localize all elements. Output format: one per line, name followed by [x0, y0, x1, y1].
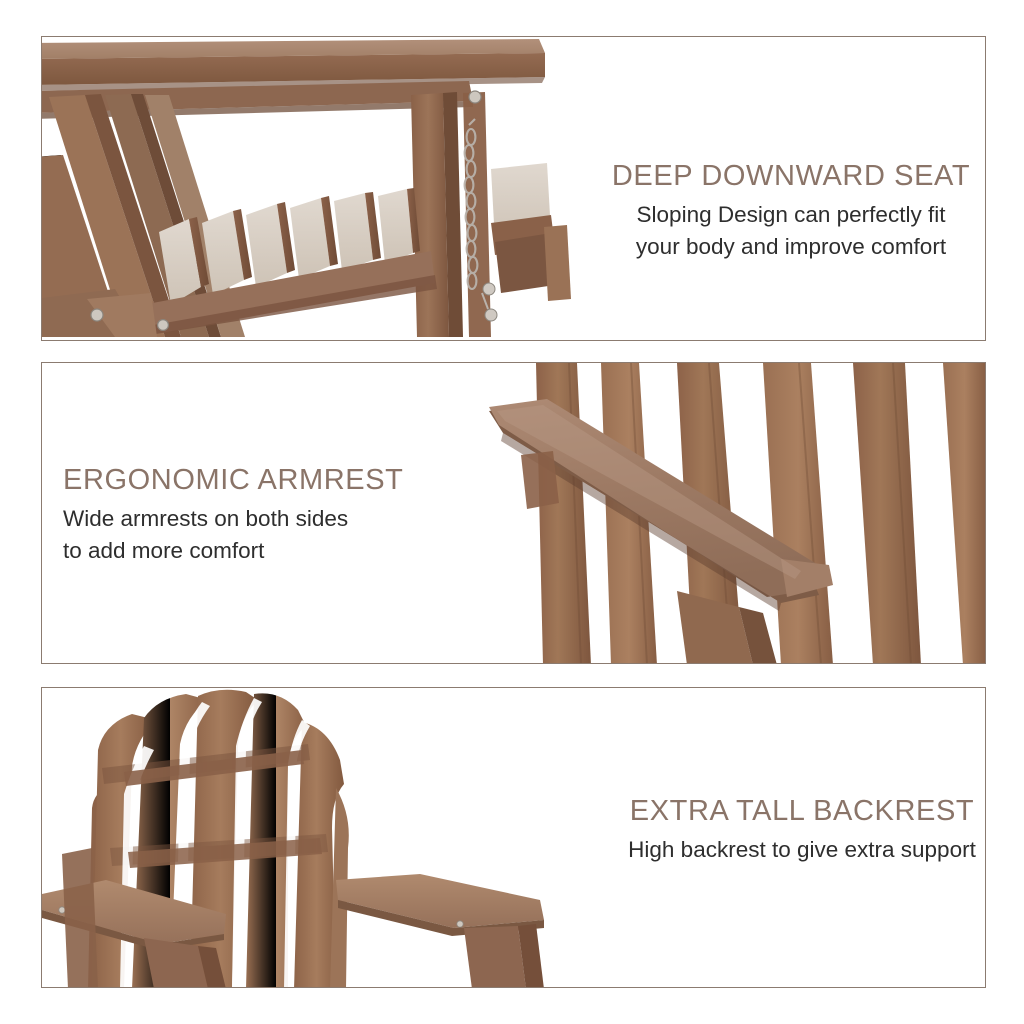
feature-panel-ergonomic-armrest: ERGONOMIC ARMREST Wide armrests on both … — [41, 362, 986, 664]
feature-copy-extra-tall-backrest: EXTRA TALL BACKREST High backrest to giv… — [602, 794, 986, 866]
feature-body-line-1: High backrest to give extra support — [602, 834, 986, 866]
feature-body-line-2: your body and improve comfort — [595, 231, 986, 263]
feature-copy-ergonomic-armrest: ERGONOMIC ARMREST Wide armrests on both … — [63, 463, 483, 567]
feature-body-line-1: Sloping Design can perfectly fit — [595, 199, 986, 231]
feature-headline: ERGONOMIC ARMREST — [63, 463, 483, 497]
product-photo-deep-downward-seat — [41, 37, 579, 340]
feature-headline: EXTRA TALL BACKREST — [602, 794, 986, 828]
product-photo-ergonomic-armrest — [481, 363, 986, 663]
feature-headline: DEEP DOWNWARD SEAT — [595, 159, 986, 193]
feature-copy-deep-downward-seat: DEEP DOWNWARD SEAT Sloping Design can pe… — [595, 159, 986, 263]
feature-body-line-1: Wide armrests on both sides — [63, 503, 483, 535]
infographic-sheet: DEEP DOWNWARD SEAT Sloping Design can pe… — [0, 0, 1024, 1024]
product-photo-extra-tall-backrest — [41, 688, 560, 987]
feature-body-line-2: to add more comfort — [63, 535, 483, 567]
vertical-post — [411, 92, 463, 337]
feature-panel-deep-downward-seat: DEEP DOWNWARD SEAT Sloping Design can pe… — [41, 36, 986, 341]
feature-panel-extra-tall-backrest: EXTRA TALL BACKREST High backrest to giv… — [41, 687, 986, 988]
